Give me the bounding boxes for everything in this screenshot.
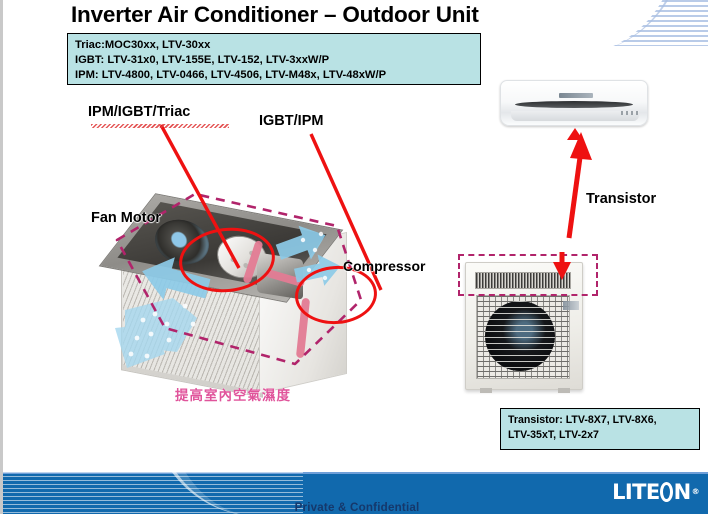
condenser-highlight-dashed-box	[458, 254, 598, 296]
parts-info-box-top: Triac:MOC30xx, LTV-30xx IGBT: LTV-31x0, …	[67, 33, 481, 85]
indoor-unit-air-outlet	[515, 101, 633, 108]
liteon-logo-text-part2: N	[674, 480, 691, 504]
infobox-bottom-line-1: Transistor: LTV-8X7, LTV-8X6,	[508, 413, 693, 428]
parts-info-box-bottom: Transistor: LTV-8X7, LTV-8X6, LTV-35xT, …	[500, 408, 700, 450]
condenser-foot-right	[558, 388, 570, 393]
slide-footer: Private & Confidential LITE N ®	[3, 472, 708, 514]
corner-decoration	[600, 0, 708, 46]
condenser-grille-bars	[485, 301, 555, 371]
liteon-logo: LITE N ®	[612, 480, 699, 504]
spellcheck-underline	[91, 124, 229, 128]
condenser-brand-logo	[563, 301, 579, 310]
indoor-unit-pointer-arrow	[567, 128, 583, 140]
callout-igbt-ipm: IGBT/IPM	[259, 113, 323, 129]
infobox-top-line-2: IGBT: LTV-31x0, LTV-155E, LTV-152, LTV-3…	[75, 53, 474, 68]
confidentiality-notice: Private & Confidential	[3, 501, 708, 514]
callout-fan-motor: Fan Motor	[91, 210, 161, 226]
callout-transistor: Transistor	[586, 191, 656, 207]
transistor-up-arrow	[569, 132, 592, 238]
registered-trademark-symbol: ®	[692, 488, 699, 496]
indoor-unit-photo	[500, 80, 648, 126]
slide-canvas: Inverter Air Conditioner – Outdoor Unit …	[0, 0, 708, 514]
callout-ipm-igbt-triac: IPM/IGBT/Triac	[88, 104, 190, 120]
indoor-unit-flap	[511, 111, 639, 121]
condenser-foot-left	[480, 388, 492, 393]
indoor-unit-brand-logo	[559, 93, 593, 98]
infobox-top-line-1: Triac:MOC30xx, LTV-30xx	[75, 38, 474, 53]
callout-compressor: Compressor	[343, 258, 425, 274]
indoor-unit-indicator-leds	[621, 111, 639, 115]
page-title: Inverter Air Conditioner – Outdoor Unit	[71, 2, 479, 28]
infobox-top-line-3: IPM: LTV-4800, LTV-0466, LTV-4506, LTV-M…	[75, 68, 474, 83]
infobox-bottom-line-2: LTV-35xT, LTV-2x7	[508, 428, 693, 443]
liteon-wordmark: LITE N ®	[612, 480, 699, 504]
liteon-logo-text-part1: LITE	[612, 480, 659, 504]
photo-chinese-caption: 提高室內空氣濕度	[175, 384, 291, 404]
liteon-o-glyph-icon	[660, 482, 673, 502]
